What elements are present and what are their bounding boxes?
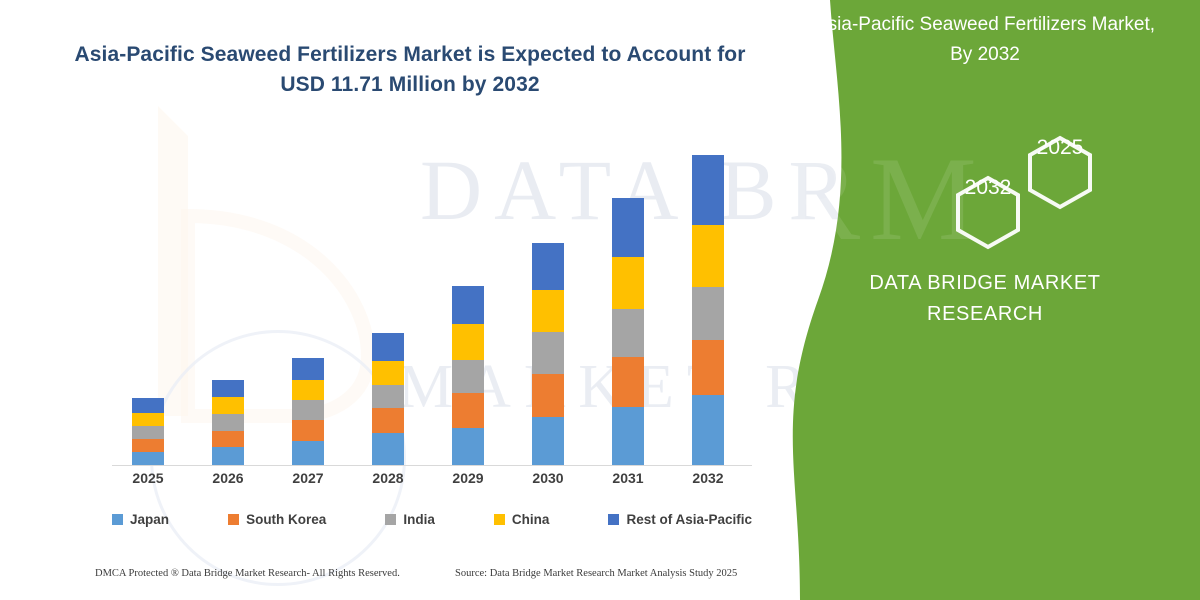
- bar-segment-japan: [372, 433, 404, 465]
- footer-source: Source: Data Bridge Market Research Mark…: [455, 568, 737, 579]
- bar-segment-china: [132, 413, 164, 426]
- bar-segment-rest-of-asia-pacific: [292, 358, 324, 380]
- bar-segment-south-korea: [212, 431, 244, 447]
- legend-label: Japan: [130, 512, 169, 527]
- bar-segment-india: [612, 309, 644, 357]
- hexagon-label-2032: 2032: [948, 176, 1028, 200]
- bar-segment-japan: [212, 447, 244, 465]
- legend-item-rest-of-asia-pacific[interactable]: Rest of Asia-Pacific: [608, 512, 752, 527]
- bar-segment-south-korea: [532, 374, 564, 417]
- x-axis-labels: 20252026202720282029203020312032: [112, 470, 752, 494]
- bar-segment-china: [532, 290, 564, 332]
- x-axis-label-2029: 2029: [438, 470, 498, 486]
- bar-segment-rest-of-asia-pacific: [452, 286, 484, 324]
- bar-segment-south-korea: [452, 393, 484, 428]
- bar-segment-india: [212, 414, 244, 431]
- x-axis-line: [112, 465, 752, 466]
- bar-segment-india: [532, 332, 564, 374]
- bar-segment-india: [292, 400, 324, 420]
- legend-swatch-icon: [608, 514, 619, 525]
- bar-segment-south-korea: [292, 420, 324, 441]
- x-axis-label-2028: 2028: [358, 470, 418, 486]
- bar-segment-japan: [612, 407, 644, 465]
- bar-segment-rest-of-asia-pacific: [612, 198, 644, 257]
- legend-item-india[interactable]: India: [385, 512, 435, 527]
- bar-segment-rest-of-asia-pacific: [212, 380, 244, 397]
- bar-segment-rest-of-asia-pacific: [532, 243, 564, 290]
- bar-segment-rest-of-asia-pacific: [372, 333, 404, 361]
- bar-segment-south-korea: [692, 340, 724, 395]
- x-axis-label-2027: 2027: [278, 470, 338, 486]
- legend-item-south-korea[interactable]: South Korea: [228, 512, 326, 527]
- bar-segment-china: [372, 361, 404, 385]
- hexagon-label-2025: 2025: [1020, 136, 1100, 160]
- bar-2026: [212, 380, 244, 465]
- legend-label: Rest of Asia-Pacific: [626, 512, 752, 527]
- bar-segment-china: [292, 380, 324, 400]
- bar-group: [112, 130, 752, 465]
- bar-segment-japan: [292, 441, 324, 465]
- footer-copyright: DMCA Protected ® Data Bridge Market Rese…: [95, 568, 400, 579]
- bar-segment-rest-of-asia-pacific: [132, 398, 164, 413]
- bar-2028: [372, 333, 404, 465]
- bar-segment-japan: [452, 428, 484, 465]
- bar-2025: [132, 398, 164, 465]
- bar-segment-japan: [132, 452, 164, 465]
- bar-segment-china: [612, 257, 644, 309]
- footer: DMCA Protected ® Data Bridge Market Rese…: [0, 568, 800, 588]
- legend-item-china[interactable]: China: [494, 512, 550, 527]
- x-axis-label-2030: 2030: [518, 470, 578, 486]
- legend-swatch-icon: [494, 514, 505, 525]
- bar-segment-india: [132, 426, 164, 439]
- bar-segment-china: [692, 225, 724, 287]
- bar-segment-india: [372, 385, 404, 408]
- brand-name: DATA BRIDGE MARKET RESEARCH: [815, 268, 1155, 330]
- bar-2027: [292, 358, 324, 465]
- bar-segment-south-korea: [132, 439, 164, 452]
- bar-2029: [452, 286, 484, 465]
- bar-segment-japan: [692, 395, 724, 465]
- chart-plot-area: 20252026202720282029203020312032: [112, 130, 752, 466]
- legend-label: China: [512, 512, 550, 527]
- legend-label: India: [403, 512, 435, 527]
- legend-item-japan[interactable]: Japan: [112, 512, 169, 527]
- bar-segment-china: [212, 397, 244, 414]
- x-axis-label-2031: 2031: [598, 470, 658, 486]
- legend-swatch-icon: [228, 514, 239, 525]
- infographic-canvas: DATA BRIDGE MARKET RESEARCH Asia-Pacific…: [0, 0, 1200, 600]
- legend-label: South Korea: [246, 512, 326, 527]
- bar-segment-south-korea: [372, 408, 404, 433]
- bar-segment-china: [452, 324, 484, 360]
- page-title: Asia-Pacific Seaweed Fertilizers Market …: [60, 40, 760, 100]
- bar-segment-south-korea: [612, 357, 644, 407]
- x-axis-label-2026: 2026: [198, 470, 258, 486]
- x-axis-label-2032: 2032: [678, 470, 738, 486]
- bar-segment-india: [452, 360, 484, 393]
- bar-segment-india: [692, 287, 724, 340]
- x-axis-label-2025: 2025: [118, 470, 178, 486]
- legend-swatch-icon: [385, 514, 396, 525]
- legend-swatch-icon: [112, 514, 123, 525]
- chart-legend: JapanSouth KoreaIndiaChinaRest of Asia-P…: [112, 512, 752, 527]
- brand-panel: RM Asia-Pacific Seaweed Fertilizers Mark…: [770, 0, 1200, 600]
- bar-2031: [612, 198, 644, 465]
- bar-segment-rest-of-asia-pacific: [692, 155, 724, 225]
- panel-title: Asia-Pacific Seaweed Fertilizers Market,…: [810, 10, 1160, 70]
- bar-segment-japan: [532, 417, 564, 465]
- bar-2030: [532, 243, 564, 465]
- bar-2032: [692, 155, 724, 465]
